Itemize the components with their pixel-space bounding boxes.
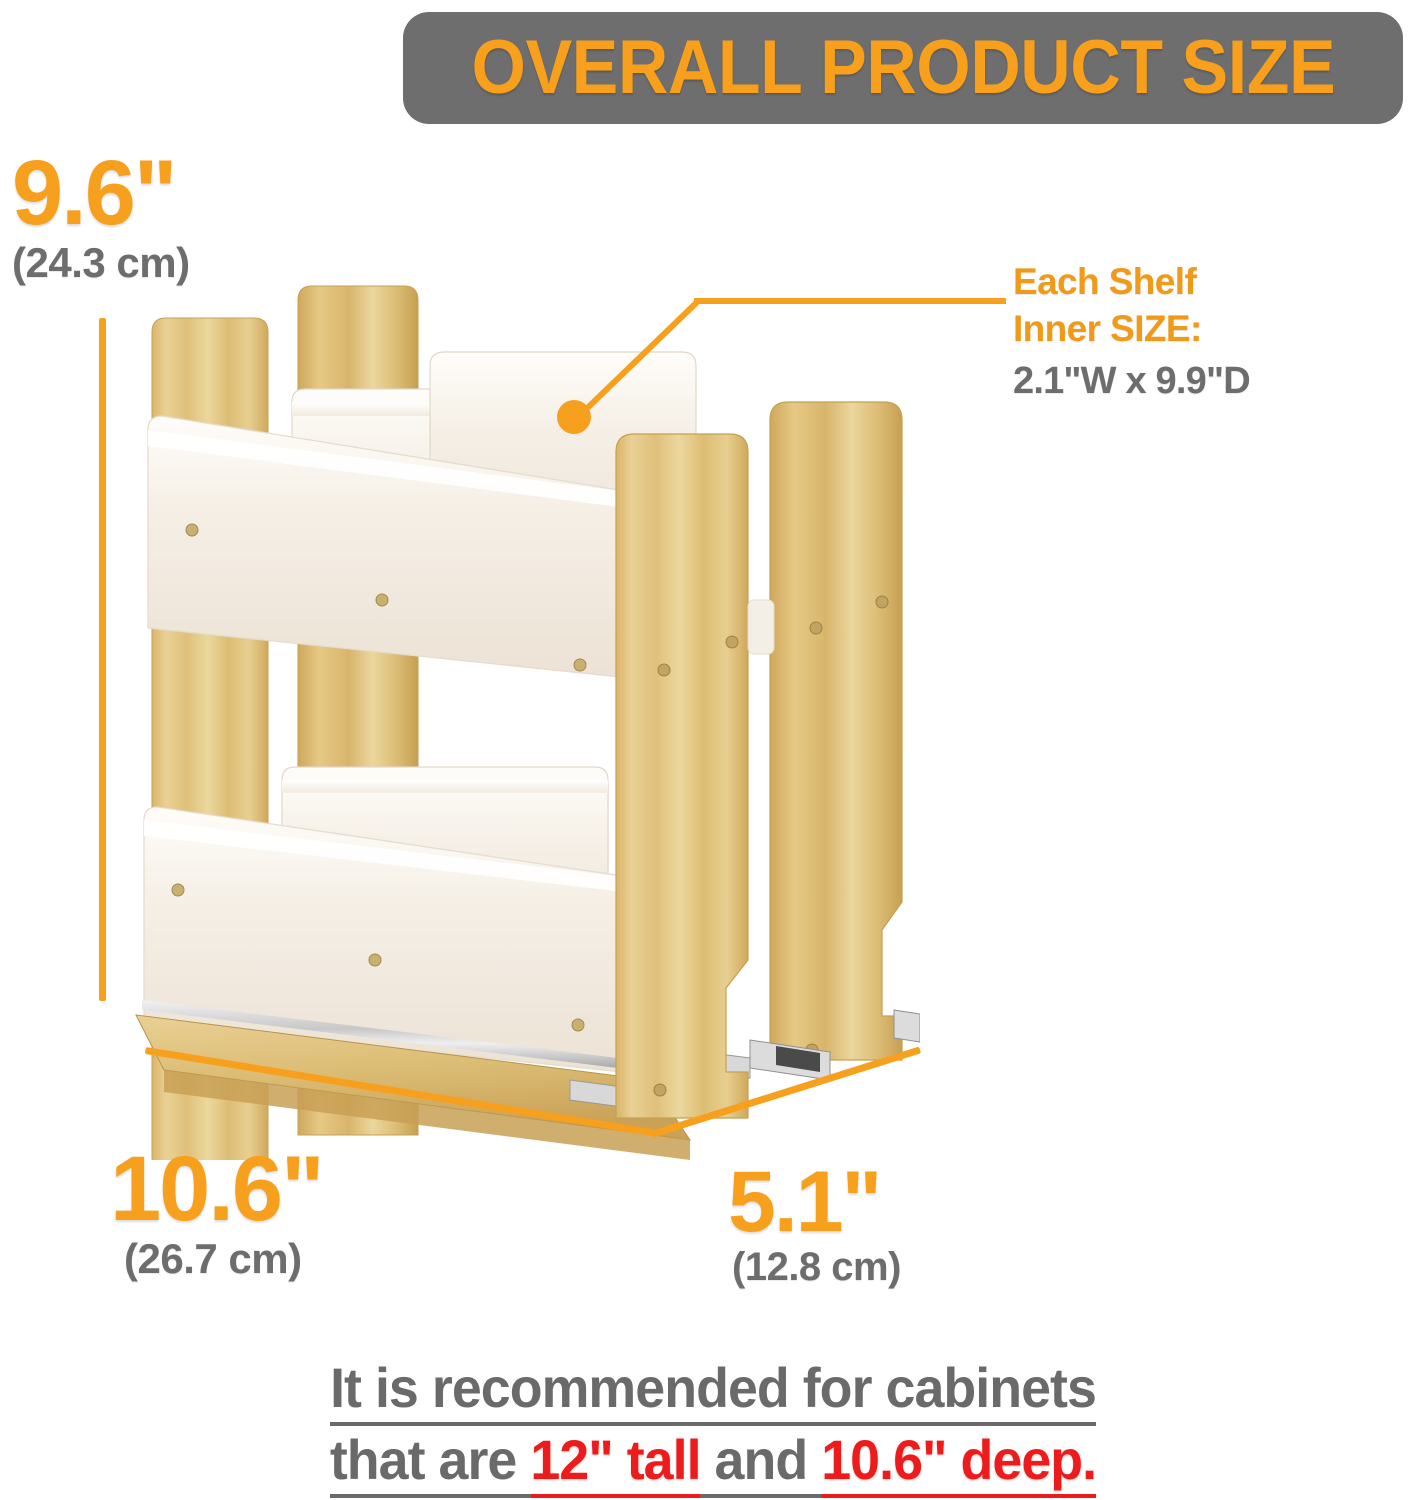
shelf-connector: [748, 600, 774, 654]
infographic-canvas: OVERALL PRODUCT SIZE: [0, 0, 1426, 1500]
cabinet-recommendation-note: It is recommended for cabinets that are …: [0, 1352, 1426, 1495]
depth-inches: 5.1": [728, 1162, 901, 1244]
bamboo-side-panel-left: [616, 434, 748, 1118]
height-centimeters: (24.3 cm): [12, 241, 190, 285]
screw-side-left-upper: [658, 664, 670, 676]
footer-text-1: It is recommended for cabinets: [330, 1356, 1096, 1426]
screw-side-left-mid: [726, 636, 738, 648]
screw-side-right-mid: [876, 596, 888, 608]
height-dimension-label: 9.6" (24.3 cm): [12, 150, 190, 285]
callout-line-3: 2.1"W x 9.9"D: [1013, 357, 1250, 406]
screw-bottom-mid: [369, 954, 381, 966]
screw-top-left: [186, 524, 198, 536]
banner-title: OVERALL PRODUCT SIZE: [471, 30, 1335, 106]
footer-text-2a: that are: [330, 1428, 531, 1498]
footer-text-2d-highlight: 10.6" deep.: [821, 1428, 1096, 1498]
screw-top-mid: [376, 594, 388, 606]
footer-line-2: that are 12" tall and 10.6" deep.: [29, 1424, 1398, 1496]
shelf-inner-size-callout: Each Shelf Inner SIZE: 2.1"W x 9.9"D: [1013, 258, 1250, 406]
footer-line-1: It is recommended for cabinets: [29, 1352, 1398, 1424]
footer-text-2b-highlight: 12" tall: [530, 1428, 700, 1498]
width-inches: 10.6": [110, 1146, 323, 1233]
screw-side-left-lower: [654, 1084, 666, 1096]
screw-bottom-left: [172, 884, 184, 896]
callout-leader-horizontal: [694, 298, 1006, 304]
height-inches: 9.6": [12, 150, 190, 237]
screw-top-right: [574, 659, 586, 671]
width-centimeters: (26.7 cm): [124, 1237, 323, 1281]
callout-line-1: Each Shelf: [1013, 258, 1250, 305]
screw-side-right-upper: [810, 622, 822, 634]
width-dimension-label: 10.6" (26.7 cm): [110, 1146, 323, 1281]
callout-line-2: Inner SIZE:: [1013, 305, 1250, 352]
footer-text-2c: and: [701, 1428, 822, 1498]
header-banner: OVERALL PRODUCT SIZE: [403, 12, 1403, 124]
height-measurement-line: [99, 318, 106, 1001]
depth-centimeters: (12.8 cm): [732, 1246, 901, 1288]
product-illustration: [130, 280, 920, 1160]
product-image: [130, 280, 920, 1160]
depth-dimension-label: 5.1" (12.8 cm): [728, 1162, 901, 1288]
screw-bottom-right: [572, 1019, 584, 1031]
bamboo-side-panel-right: [770, 402, 902, 1060]
